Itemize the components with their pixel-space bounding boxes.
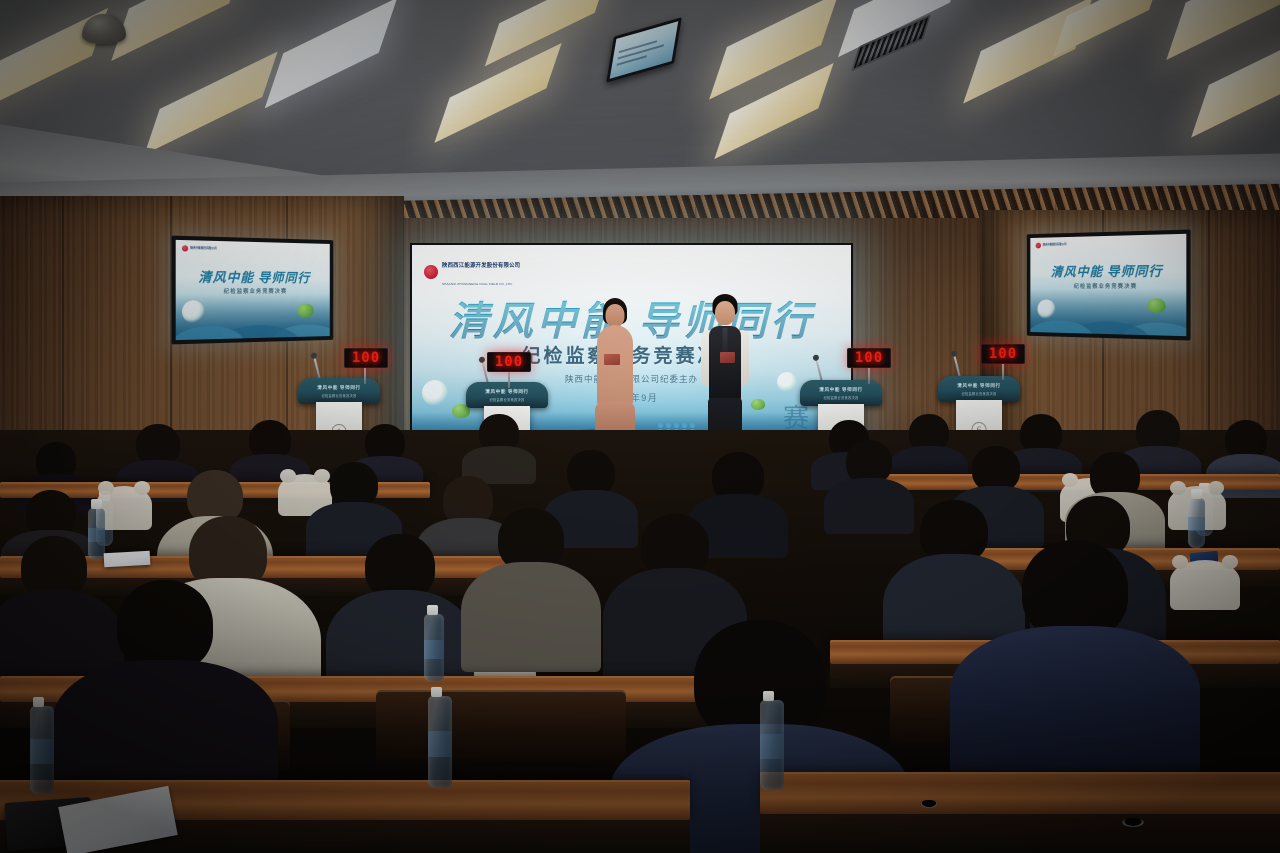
desk-front-panel (760, 814, 1280, 853)
podium-plate-line1: 清风中能 导师同行 (298, 385, 380, 391)
necktie (723, 328, 728, 354)
side-screen-title: 清风中能 导师同行 (176, 266, 330, 286)
head (117, 580, 213, 672)
paper-document (104, 551, 151, 567)
water-bottle (424, 614, 444, 682)
score-value: 100 (855, 350, 883, 366)
company-logo-mark (1036, 243, 1041, 249)
side-screen-logo-text: 陕西中能煤田有限公司 (1043, 243, 1067, 247)
audience-person (900, 414, 958, 480)
score-value: 100 (352, 350, 380, 366)
conference-hall-photo: 陕西中能煤田有限公司 清风中能 导师同行 纪检监察业务竞赛决赛 陕西中能煤田有限… (0, 0, 1280, 853)
chair-back-cushion (1170, 560, 1240, 610)
bottle-label (424, 640, 444, 659)
podium-name-plate: 清风中能 导师同行 纪检监察业务竞赛决赛 (298, 378, 380, 404)
chair-back (376, 690, 626, 762)
company-logo-mark (182, 245, 188, 251)
head (715, 301, 735, 325)
podium-plate-line1: 清风中能 导师同行 (800, 387, 882, 393)
side-screen-logo-text: 陕西中能煤田有限公司 (190, 247, 216, 251)
bottle-label (30, 739, 54, 764)
podium-plate-line2: 纪检监察业务竞赛决赛 (466, 397, 548, 402)
podium-plate-line2: 纪检监察业务竞赛决赛 (800, 395, 882, 400)
ceiling-light-panel (111, 0, 247, 61)
side-screen-title: 清风中能 导师同行 (1030, 260, 1186, 280)
dome-camera-icon (82, 14, 126, 44)
head (606, 304, 625, 327)
side-screen-logo: 陕西中能煤田有限公司 (1036, 242, 1067, 249)
company-logo-mark (424, 265, 438, 279)
podium-plate-line2: 纪检监察业务竞赛决赛 (298, 393, 380, 398)
bottle-label (760, 734, 784, 759)
water-bottle (30, 706, 54, 794)
main-screen-logo: 陕西西江能源开发股份有限公司 SHAANXI ZHONGNENG COAL FI… (424, 254, 520, 290)
score-display-5: 100 (847, 348, 891, 368)
score-value: 100 (989, 346, 1017, 362)
podium-name-plate: 清风中能 导师同行 纪检监察业务竞赛决赛 (938, 376, 1020, 402)
score-display-1: 100 (344, 348, 388, 368)
side-display-left: 陕西中能煤田有限公司 清风中能 导师同行 纪检监察业务竞赛决赛 (171, 236, 333, 345)
torso (597, 325, 633, 411)
score-display-stand (1002, 364, 1004, 380)
podium-plate-line1: 清风中能 导师同行 (938, 383, 1020, 389)
script-card (720, 352, 735, 363)
ceiling-light-panel (1166, 0, 1280, 60)
desk-cable-grommet (1122, 818, 1144, 827)
score-value: 100 (495, 354, 523, 370)
side-display-right: 陕西中能煤田有限公司 清风中能 导师同行 纪检监察业务竞赛决赛 (1027, 229, 1191, 340)
side-screen-logo: 陕西中能煤田有限公司 (182, 245, 217, 252)
ceiling-light-panel (144, 51, 277, 154)
audience-person (470, 414, 528, 478)
script-card (604, 354, 620, 365)
water-bottle (1188, 498, 1205, 548)
shoulders (950, 626, 1200, 774)
score-display-stand (364, 368, 366, 384)
bottle-label (1188, 517, 1205, 531)
podium-plate-line2: 纪检监察业务竞赛决赛 (938, 391, 1020, 396)
ceiling-light-panel (1191, 26, 1280, 137)
score-display-stand (868, 368, 870, 384)
desk-cable-grommet (920, 800, 938, 808)
score-display-2: 100 (487, 352, 531, 372)
podium-name-plate: 清风中能 导师同行 纪检监察业务竞赛决赛 (466, 382, 548, 408)
bottle-label (428, 731, 452, 757)
score-display-stand (508, 372, 510, 388)
head (1022, 540, 1128, 640)
score-display-6: 100 (981, 344, 1025, 364)
shoulders (461, 562, 601, 672)
ceiling-hung-monitor (606, 17, 682, 83)
company-name-en: SHAANXI ZHONGNENG COAL FIELD CO.,LTD. (442, 282, 513, 286)
lotus-graphic (1037, 299, 1055, 319)
audience-person-foreground (980, 540, 1170, 770)
ceiling-light-panel (265, 0, 398, 108)
leaf-graphic (297, 304, 313, 318)
company-name-cn: 陕西西江能源开发股份有限公司 (442, 263, 520, 269)
audience-person (478, 508, 584, 668)
audience-desk-foreground (760, 772, 1280, 814)
audience-person-foreground (80, 580, 250, 800)
podium-plate-line1: 清风中能 导师同行 (466, 389, 548, 395)
water-bottle (760, 700, 784, 790)
leaf-graphic (1147, 298, 1165, 313)
audience-person (836, 440, 902, 532)
water-bottle (428, 696, 452, 788)
